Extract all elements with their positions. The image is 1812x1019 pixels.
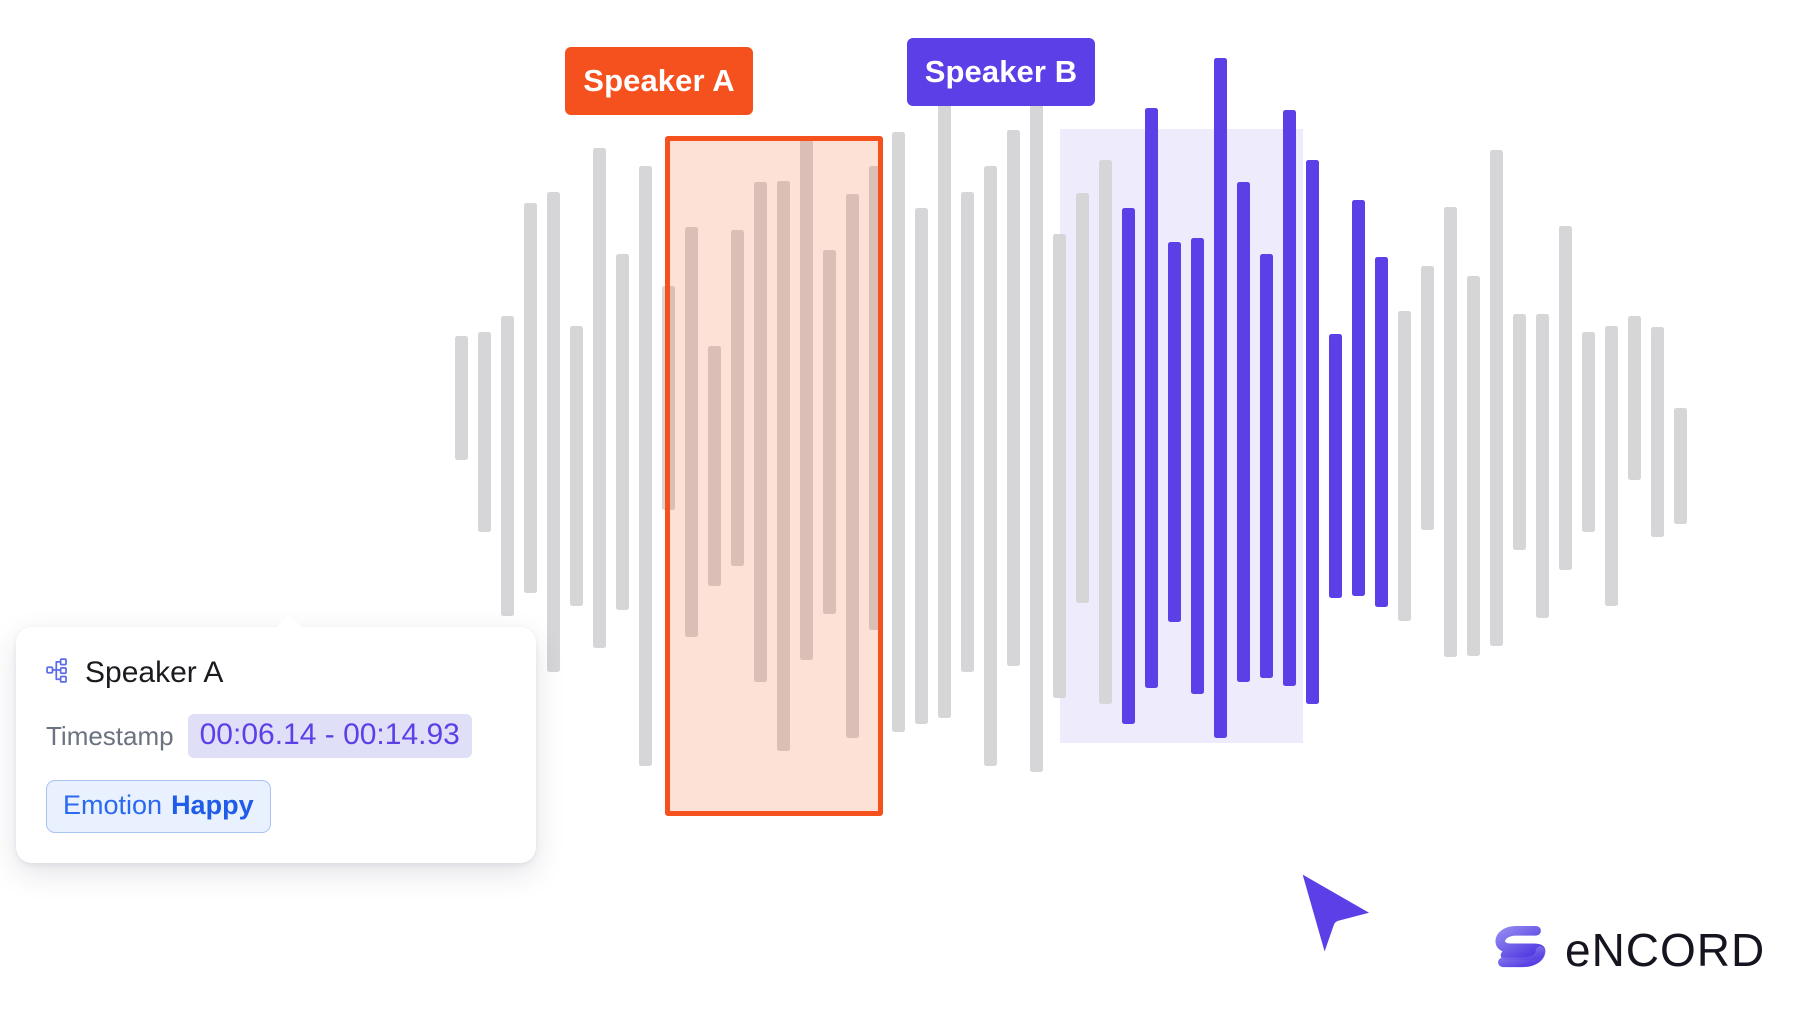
timestamp-row: Timestamp 00:06.14 - 00:14.93 — [46, 714, 510, 758]
hierarchy-icon — [46, 657, 72, 688]
waveform-bar — [1490, 150, 1503, 646]
waveform-bar — [1030, 92, 1043, 772]
waveform-bar — [1375, 257, 1388, 607]
waveform-bar — [1674, 408, 1687, 524]
timestamp-label: Timestamp — [46, 721, 174, 752]
waveform-bar — [593, 148, 606, 648]
waveform-bar — [570, 326, 583, 606]
mouse-cursor-icon — [1278, 855, 1398, 985]
waveform-bar — [1582, 332, 1595, 532]
timestamp-value[interactable]: 00:06.14 - 00:14.93 — [188, 714, 472, 758]
waveform-bar — [1651, 327, 1664, 537]
encord-wordmark: eNCORD — [1565, 923, 1765, 977]
encord-logo: eNCORD — [1495, 922, 1765, 978]
waveform-bar — [984, 166, 997, 766]
waveform-bar — [961, 192, 974, 672]
waveform-bar — [1605, 326, 1618, 606]
waveform-bar — [616, 254, 629, 610]
waveform-chart — [0, 0, 1812, 1019]
waveform-bar — [478, 332, 491, 532]
card-title: Speaker A — [85, 658, 223, 688]
waveform-bar — [547, 192, 560, 672]
speaker-badge-b-label: Speaker B — [925, 54, 1078, 90]
segment-info-card[interactable]: Speaker A Timestamp 00:06.14 - 00:14.93 … — [16, 627, 536, 863]
waveform-bar — [1421, 266, 1434, 530]
speaker-badge-a-label: Speaker A — [583, 63, 734, 99]
waveform-bar — [915, 208, 928, 724]
waveform-bar — [1628, 316, 1641, 480]
emotion-attribute-chip[interactable]: Emotion Happy — [46, 780, 271, 833]
waveform-bar — [892, 132, 905, 732]
waveform-bar — [1513, 314, 1526, 550]
waveform-bar — [639, 166, 652, 766]
speaker-badge-a[interactable]: Speaker A — [565, 47, 753, 115]
waveform-bar — [1536, 314, 1549, 618]
waveform-bar — [501, 316, 514, 616]
waveform-bar — [1306, 160, 1319, 704]
waveform-bar — [1352, 200, 1365, 596]
emotion-attribute-name: Emotion — [63, 790, 162, 821]
audio-annotation-canvas: Speaker A Speaker B Speaker A Timestamp … — [0, 0, 1812, 1019]
emotion-attribute-value: Happy — [171, 790, 254, 821]
waveform-bar — [1007, 130, 1020, 666]
waveform-bar — [1398, 311, 1411, 621]
waveform-bar — [524, 203, 537, 593]
waveform-bar — [1329, 334, 1342, 598]
encord-mark-icon — [1495, 922, 1551, 978]
waveform-bar — [938, 78, 951, 718]
segment-region-speaker-b[interactable] — [1060, 129, 1303, 743]
waveform-bar — [1467, 276, 1480, 656]
waveform-bar — [455, 336, 468, 460]
card-title-row: Speaker A — [46, 657, 510, 688]
segment-region-speaker-a[interactable] — [665, 136, 883, 816]
waveform-bar — [1559, 226, 1572, 570]
speaker-badge-b[interactable]: Speaker B — [907, 38, 1095, 106]
card-pointer-arrow — [274, 614, 304, 630]
waveform-bar — [1444, 207, 1457, 657]
